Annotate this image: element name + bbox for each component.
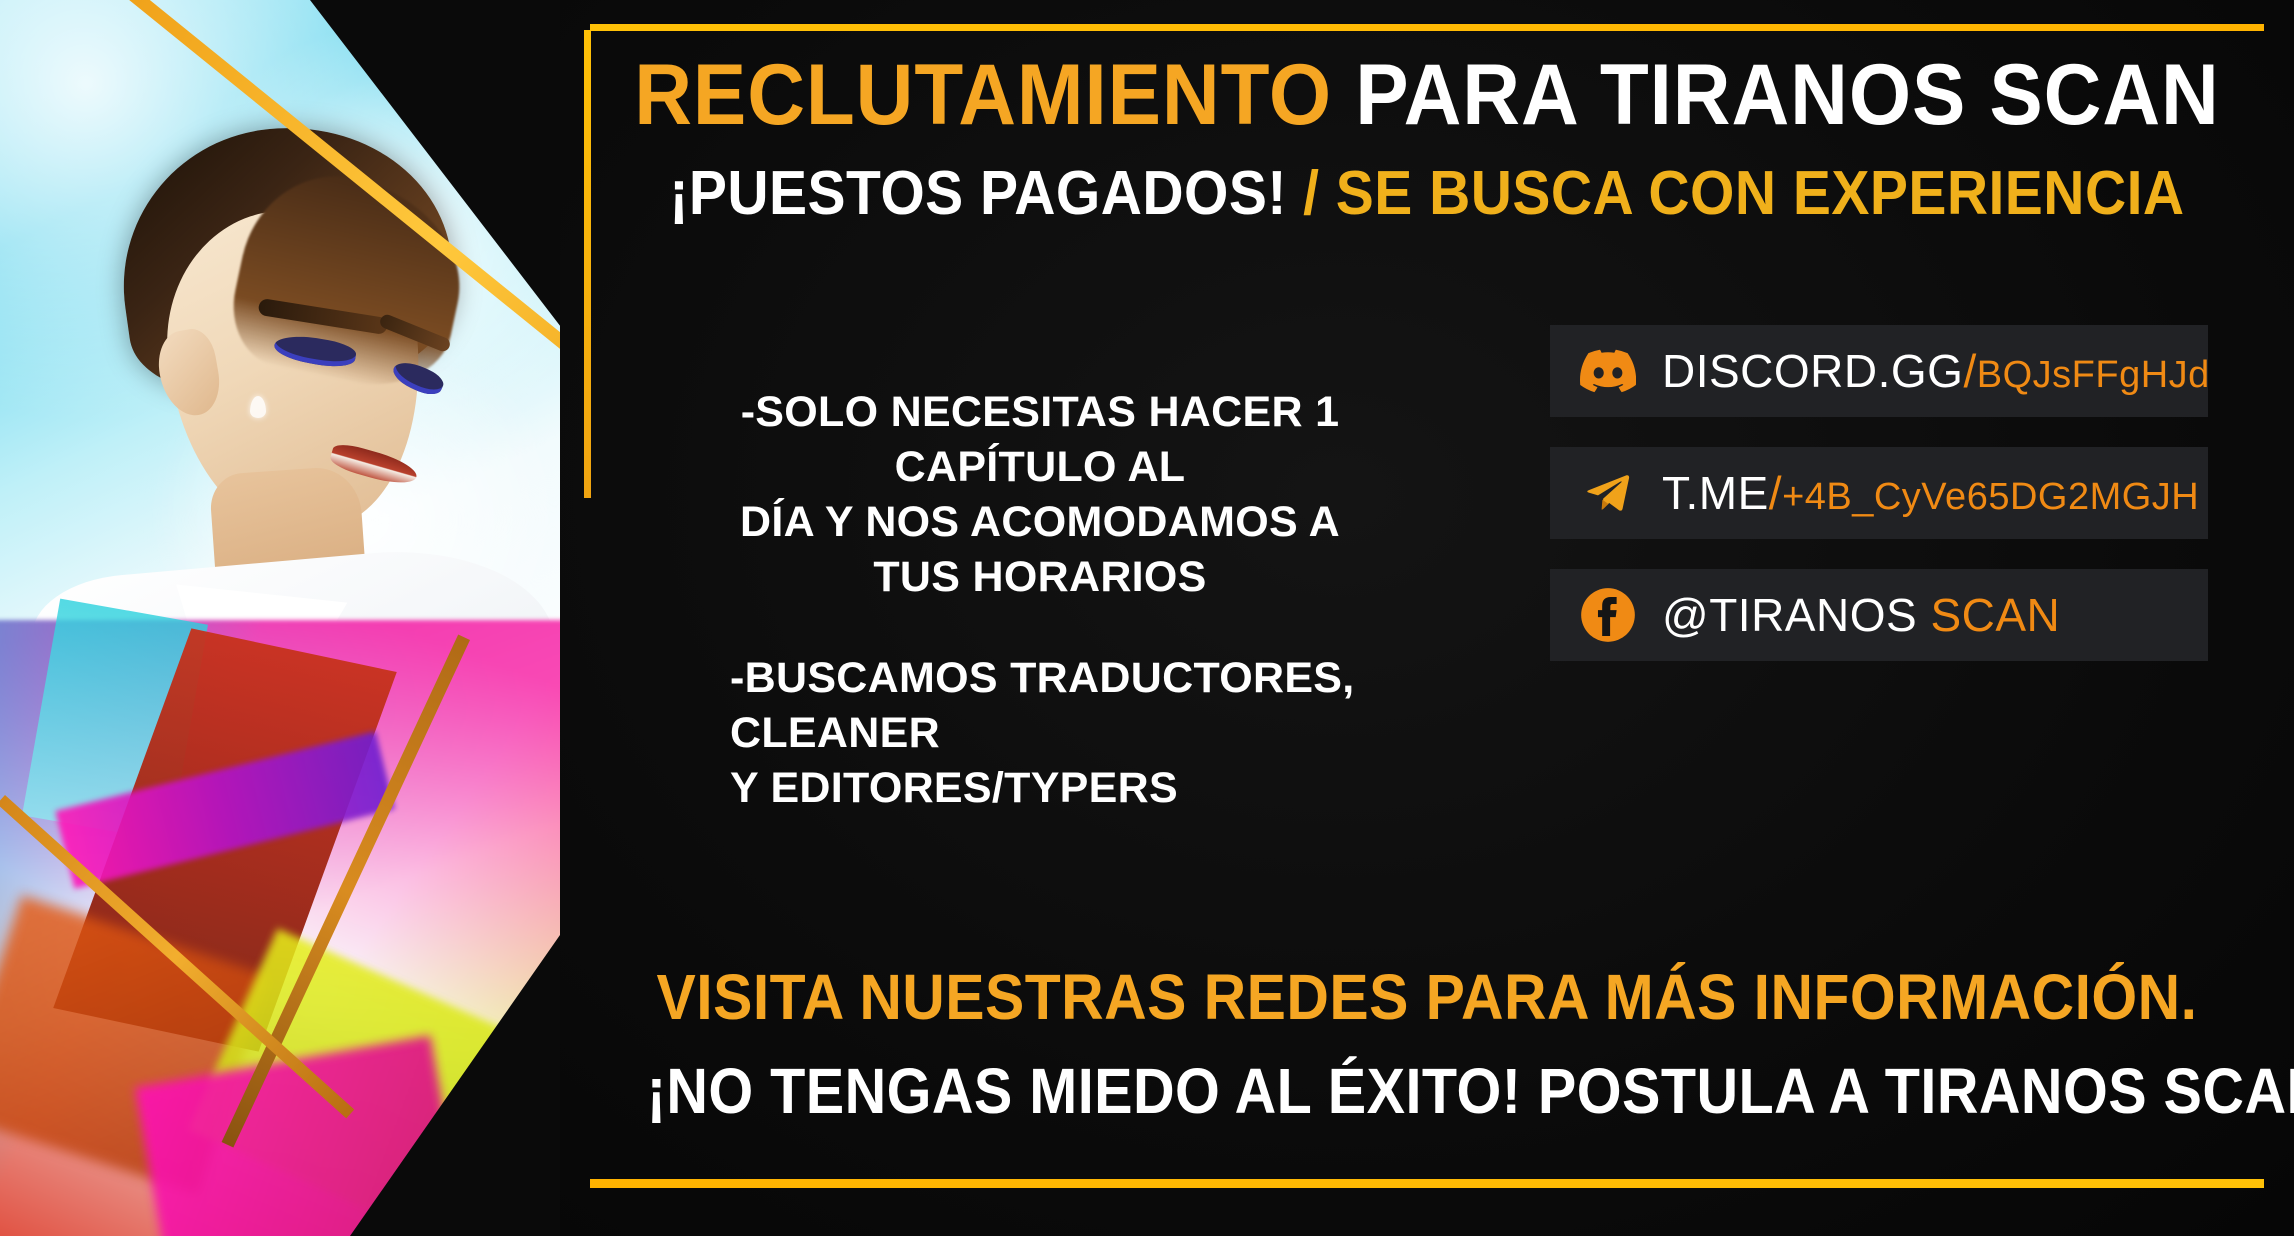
- artwork-panel: [0, 0, 640, 1236]
- bullet-2-line-1: -BUSCAMOS TRADUCTORES, CLEANER: [710, 651, 1370, 761]
- subline-separator: /: [1303, 159, 1319, 228]
- facebook-handle-primary: @TIRANOS: [1662, 589, 1917, 641]
- telegram-icon: [1580, 465, 1636, 521]
- discord-icon: [1580, 343, 1636, 399]
- headline-word-reclutamiento: RECLUTAMIENTO: [634, 47, 1332, 143]
- headline-group: RECLUTAMIENTO PARA TIRANOS SCAN: [560, 52, 2294, 138]
- discord-domain: DISCORD.GG: [1662, 345, 1963, 397]
- discord-link-text: DISCORD.GG/BQJsFFgHJd: [1662, 344, 2210, 398]
- bottom-gold-rule: [590, 1179, 2264, 1188]
- bullet-item-2: -BUSCAMOS TRADUCTORES, CLEANER Y EDITORE…: [710, 651, 1370, 816]
- discord-separator: /: [1963, 345, 1976, 397]
- social-card-discord[interactable]: DISCORD.GG/BQJsFFgHJd: [1550, 325, 2208, 417]
- subline-se-busca-con-experiencia: SE BUSCA CON EXPERIENCIA: [1336, 159, 2185, 228]
- content-panel: RECLUTAMIENTO PARA TIRANOS SCAN ¡PUESTOS…: [560, 0, 2294, 1236]
- recruitment-banner: RECLUTAMIENTO PARA TIRANOS SCAN ¡PUESTOS…: [0, 0, 2294, 1236]
- headline-word-para-tiranos-scan: PARA TIRANOS SCAN: [1355, 47, 2220, 143]
- headline-line-1: RECLUTAMIENTO PARA TIRANOS SCAN: [621, 52, 2234, 138]
- headline-line-2: ¡PUESTOS PAGADOS! / SE BUSCA CON EXPERIE…: [629, 158, 2224, 229]
- bullet-1-line-2: DÍA Y NOS ACOMODAMOS A TUS HORARIOS: [710, 495, 1370, 605]
- footer-line-1: VISITA NUESTRAS REDES PARA MÁS INFORMACI…: [629, 960, 2224, 1034]
- telegram-invite-code: +4B_CyVe65DG2MGJH: [1782, 476, 2199, 518]
- facebook-handle-suffix: SCAN: [1930, 589, 2060, 641]
- social-card-facebook[interactable]: @TIRANOS SCAN: [1550, 569, 2208, 661]
- bullet-1-line-1: -SOLO NECESITAS HACER 1 CAPÍTULO AL: [710, 385, 1370, 495]
- discord-invite-code: BQJsFFgHJd: [1977, 354, 2210, 396]
- telegram-link-text: T.ME/+4B_CyVe65DG2MGJH: [1662, 466, 2199, 520]
- social-links-group: DISCORD.GG/BQJsFFgHJd T.ME/+4B_CyVe65DG2…: [1550, 325, 2208, 691]
- telegram-domain: T.ME: [1662, 467, 1769, 519]
- top-gold-rule: [590, 24, 2264, 31]
- social-card-telegram[interactable]: T.ME/+4B_CyVe65DG2MGJH: [1550, 447, 2208, 539]
- bullet-list: -SOLO NECESITAS HACER 1 CAPÍTULO AL DÍA …: [710, 385, 1370, 862]
- bullet-item-1: -SOLO NECESITAS HACER 1 CAPÍTULO AL DÍA …: [710, 385, 1370, 605]
- facebook-link-text: @TIRANOS SCAN: [1662, 588, 2060, 642]
- footer-group: VISITA NUESTRAS REDES PARA MÁS INFORMACI…: [560, 960, 2294, 1128]
- telegram-separator: /: [1769, 467, 1782, 519]
- bullet-2-line-2: Y EDITORES/TYPERS: [710, 761, 1370, 816]
- subline-puestos-pagados: ¡PUESTOS PAGADOS!: [669, 159, 1286, 228]
- footer-line-2: ¡NO TENGAS MIEDO AL ÉXITO! POSTULA A TIR…: [647, 1054, 2208, 1128]
- facebook-icon: [1580, 587, 1636, 643]
